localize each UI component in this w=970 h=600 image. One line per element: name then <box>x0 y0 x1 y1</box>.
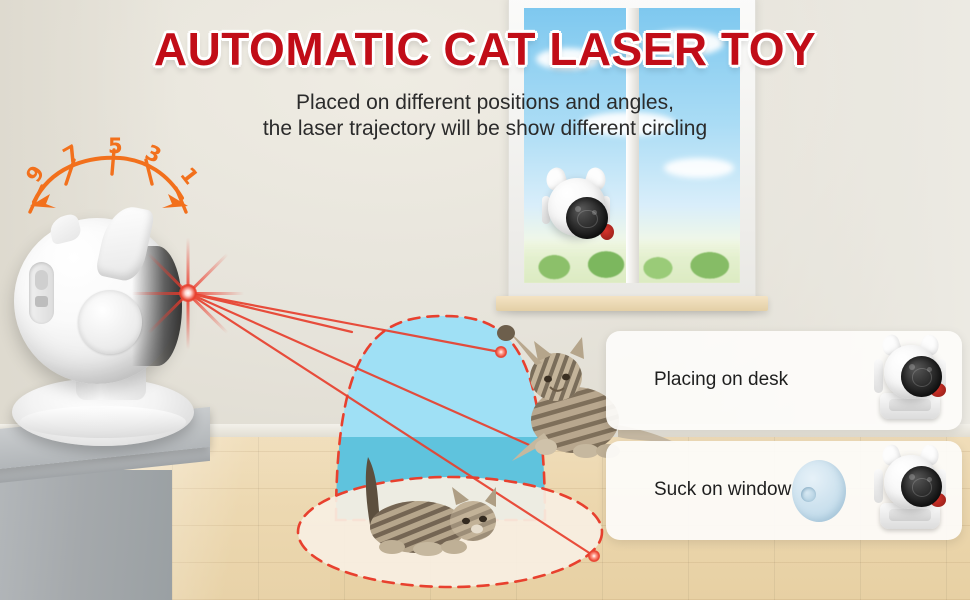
card-placing-on-desk[interactable]: Placing on desk <box>606 331 962 430</box>
subtitle-line-2: the laser trajectory will be show differ… <box>0 116 970 142</box>
product-banner: 9 7 5 3 1 AUTOMATIC CAT LASER TOY Placed… <box>0 0 970 600</box>
crouching-cat <box>330 455 530 575</box>
lens-dot <box>927 367 932 372</box>
lens-dot <box>927 477 932 482</box>
laser-device-icon <box>874 451 946 535</box>
lens-dot <box>909 474 915 480</box>
angle-adjustment-scale: 9 7 5 3 1 <box>16 140 206 220</box>
page-title: AUTOMATIC CAT LASER TOY <box>0 22 970 76</box>
page-subtitle: Placed on different positions and angles… <box>0 90 970 142</box>
suction-cup-icon <box>792 460 846 522</box>
device-arm <box>874 359 883 393</box>
lens-dot <box>909 364 915 370</box>
laser-device-icon <box>874 341 946 425</box>
card-label-placing-on-desk: Placing on desk <box>654 369 788 391</box>
arrow-right-icon <box>162 194 188 208</box>
card-suck-on-window[interactable]: Suck on window <box>606 441 962 540</box>
device-arm <box>874 469 883 503</box>
device-body <box>884 345 938 399</box>
laser-lens <box>901 356 942 397</box>
laser-dot-on-floor <box>588 550 600 562</box>
laser-lens <box>901 466 942 507</box>
device-body <box>884 455 938 509</box>
subtitle-line-1: Placed on different positions and angles… <box>0 90 970 116</box>
card-label-suck-on-window: Suck on window <box>654 479 791 501</box>
